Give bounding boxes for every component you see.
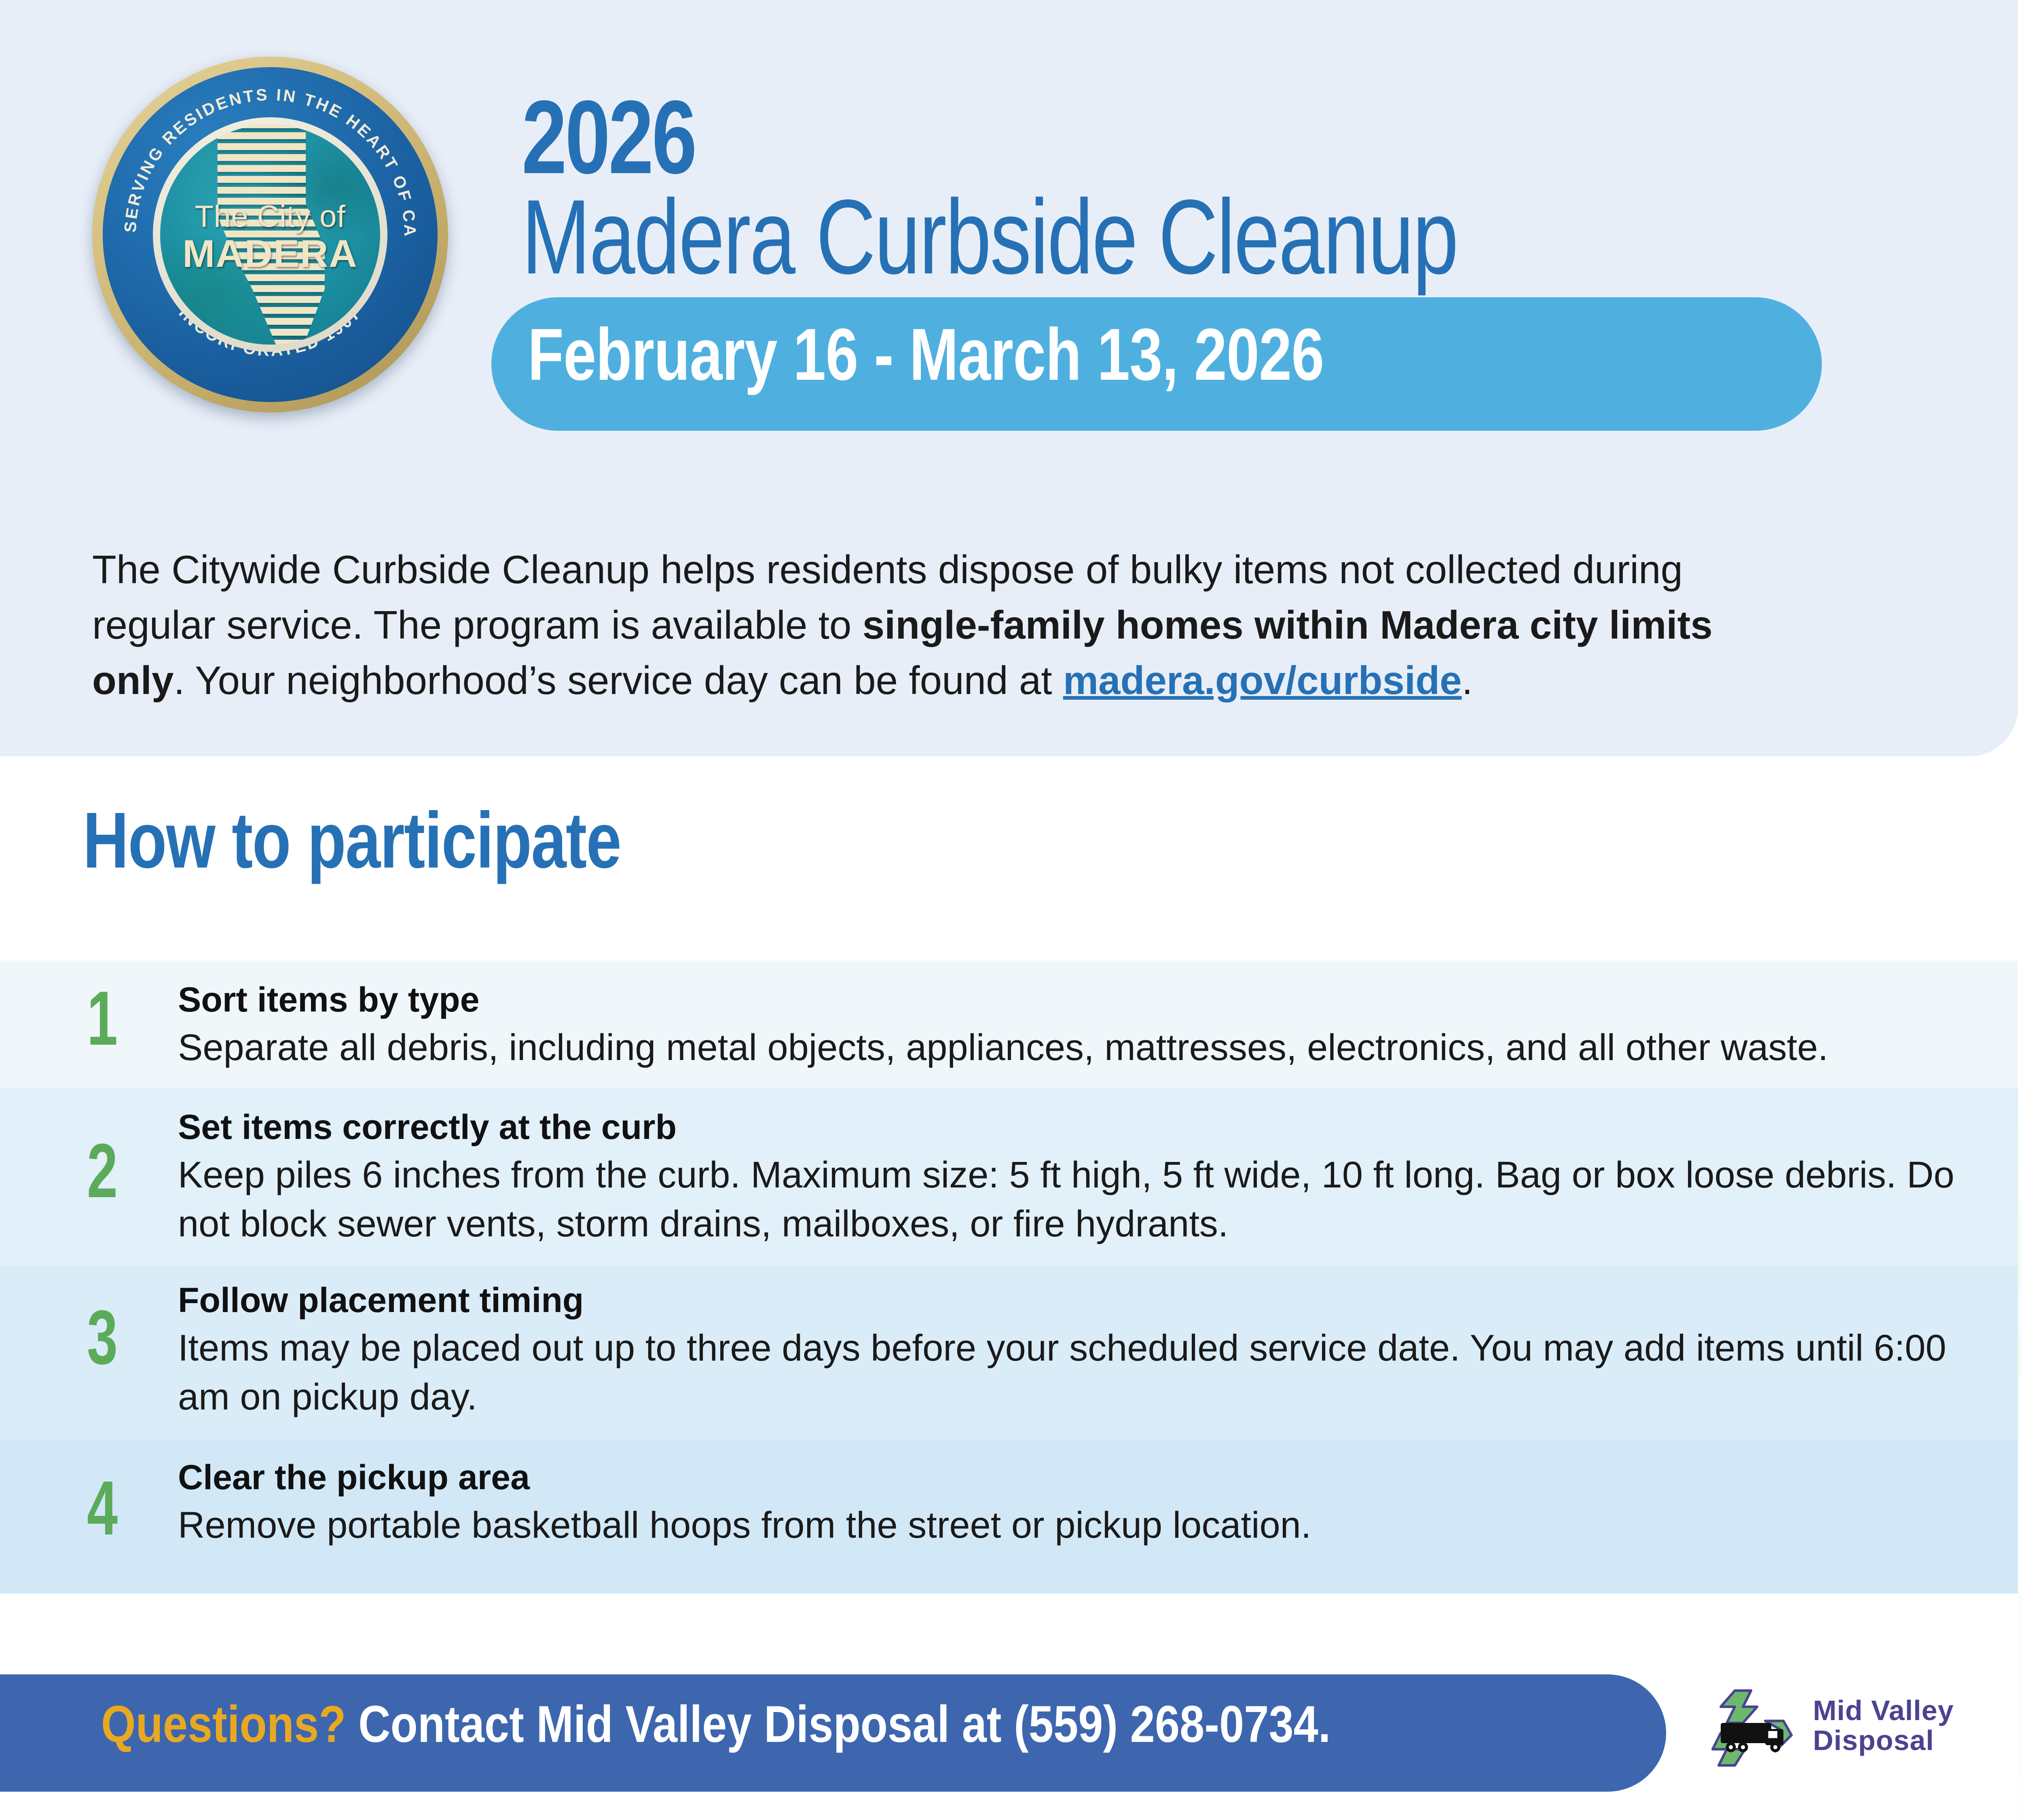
step-desc-1: Separate all debris, including metal obj…	[178, 1023, 1978, 1072]
intro-part3: .	[1462, 658, 1473, 703]
mvd-line-1: Mid Valley	[1813, 1696, 1954, 1726]
step-body-3: Follow placement timing Items may be pla…	[178, 1280, 1978, 1422]
footer-contact-text: Questions? Contact Mid Valley Disposal a…	[101, 1699, 1330, 1750]
seal-name-line2: MADERA	[160, 235, 380, 273]
step-title-2: Set items correctly at the curb	[178, 1107, 1978, 1147]
seal-name-line1: The City of	[160, 201, 380, 232]
left-column: PROUDLY SERVING RESIDENTS IN THE HEART O…	[0, 0, 2018, 1820]
mvd-line-2: Disposal	[1813, 1726, 1954, 1756]
intro-paragraph: The Citywide Curbside Cleanup helps resi…	[92, 542, 1807, 709]
recycle-truck-icon	[1705, 1676, 1806, 1778]
step-desc-4: Remove portable basketball hoops from th…	[178, 1501, 1978, 1550]
step-number-1: 1	[87, 980, 118, 1057]
step-row-4: 4 Clear the pickup area Remove portable …	[0, 1440, 2018, 1594]
step-title-3: Follow placement timing	[178, 1280, 1978, 1321]
step-row-1: 1 Sort items by type Separate all debris…	[0, 961, 2018, 1088]
year-heading: 2026	[522, 85, 695, 189]
step-title-4: Clear the pickup area	[178, 1458, 1978, 1498]
mid-valley-disposal-wordmark: Mid Valley Disposal	[1813, 1696, 1954, 1755]
intro-part2: . Your neighborhood’s service day can be…	[173, 658, 1063, 703]
step-body-1: Sort items by type Separate all debris, …	[178, 980, 1978, 1072]
step-body-4: Clear the pickup area Remove portable ba…	[178, 1458, 1978, 1550]
step-desc-2: Keep piles 6 inches from the curb. Maxim…	[178, 1151, 1978, 1249]
scene-fade-overlay	[2018, 1072, 2022, 1820]
seal-inner-disc: The City of MADERA	[160, 125, 380, 345]
date-range-text: February 16 - March 13, 2026	[528, 317, 1324, 391]
step-row-2: 2 Set items correctly at the curb Keep p…	[0, 1088, 2018, 1266]
flyer-page: PROUDLY SERVING RESIDENTS IN THE HEART O…	[0, 0, 2022, 1820]
step-desc-3: Items may be placed out up to three days…	[178, 1324, 1978, 1422]
ineligible-items-title: Ineligible Items	[2018, 44, 2022, 105]
how-to-participate-heading: How to participate	[83, 795, 621, 886]
footer-questions-label: Questions?	[101, 1695, 346, 1753]
step-title-1: Sort items by type	[178, 980, 1978, 1020]
footer-contact-label: Contact Mid Valley Disposal at (559) 268…	[346, 1695, 1330, 1753]
step-body-2: Set items correctly at the curb Keep pil…	[178, 1107, 1978, 1249]
seal-name: The City of MADERA	[160, 201, 380, 273]
step-number-4: 4	[87, 1470, 118, 1547]
mid-valley-disposal-logo: Mid Valley Disposal	[1705, 1676, 1984, 1782]
city-of-madera-seal-icon: PROUDLY SERVING RESIDENTS IN THE HEART O…	[92, 57, 448, 413]
right-column: Ineligible Items Acids, oxidizers, and b…	[2018, 0, 2022, 1820]
curbside-link[interactable]: madera.gov/curbside	[1063, 658, 1462, 703]
page-title: Madera Curbside Cleanup	[522, 184, 1457, 290]
step-number-2: 2	[87, 1132, 118, 1209]
step-number-3: 3	[87, 1299, 118, 1376]
neighborhood-illustration	[2018, 1072, 2022, 1820]
step-row-3: 3 Follow placement timing Items may be p…	[0, 1266, 2018, 1440]
